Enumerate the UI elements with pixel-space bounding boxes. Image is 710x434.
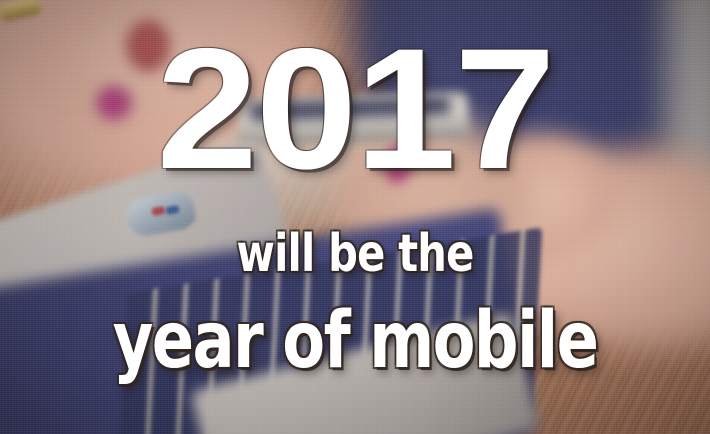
- headline-main: year of mobile: [71, 302, 639, 380]
- headline-year: 2017: [0, 28, 710, 191]
- poster-image: 2017 will be the year of mobile: [0, 0, 710, 434]
- headline-subline: will be the: [71, 228, 639, 280]
- text-overlay: 2017 will be the year of mobile: [0, 0, 710, 434]
